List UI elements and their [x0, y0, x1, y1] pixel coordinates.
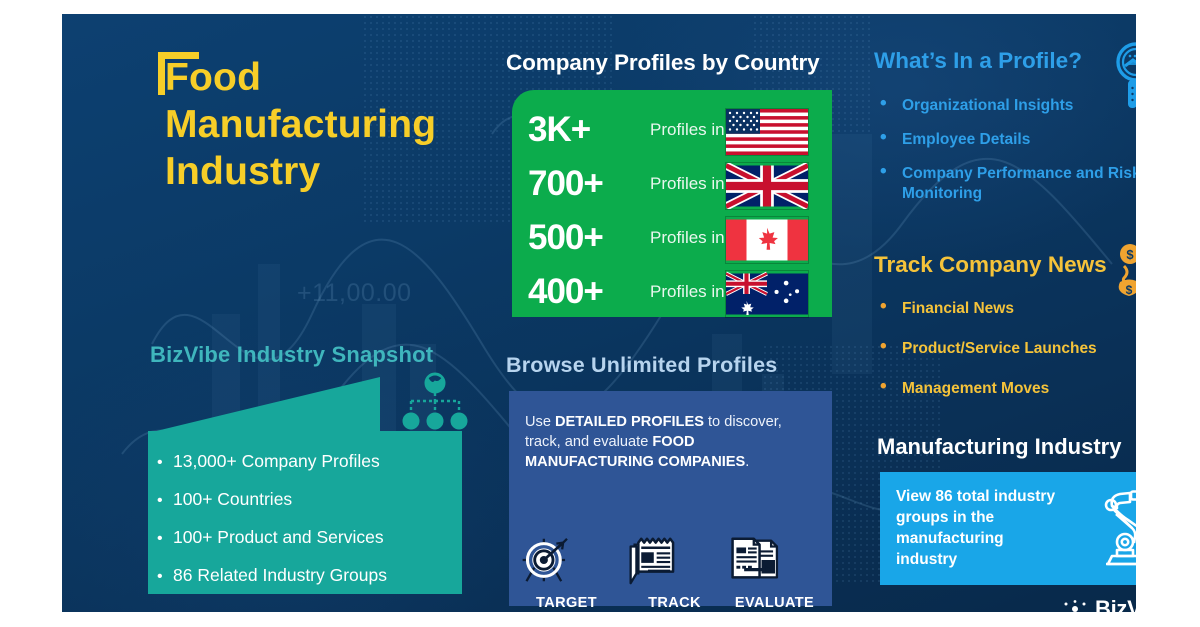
profiles-by-country-heading: Company Profiles by Country	[506, 50, 846, 76]
list-item-label: Management Moves	[902, 380, 1049, 397]
table-row: 400+ Profiles in	[512, 272, 832, 322]
list-item: • 86 Related Industry Groups	[148, 567, 462, 584]
title-line-2: Manufacturing	[165, 101, 495, 148]
background-watermark-number: +11,00.00	[297, 279, 412, 308]
action-target[interactable]: TARGET	[513, 533, 620, 611]
list-item: • 100+ Product and Services	[148, 529, 462, 546]
snapshot-heading: BizVibe Industry Snapshot	[150, 342, 480, 368]
track-news-heading: Track Company News	[874, 252, 1107, 278]
list-item-label: 100+ Product and Services	[173, 527, 384, 547]
profiles-by-country-panel: 3K+ Profiles in	[512, 90, 832, 317]
bullet-icon: •	[880, 337, 887, 357]
profile-count: 400+	[528, 272, 603, 312]
bullet-icon: •	[157, 492, 163, 509]
table-row: 3K+ Profiles in	[512, 110, 832, 160]
list-item-label: 100+ Countries	[173, 489, 292, 509]
svg-text:$: $	[1126, 247, 1134, 262]
profile-count: 700+	[528, 164, 603, 204]
action-label: EVALUATE	[721, 595, 828, 611]
list-item: • Product/Service Launches	[874, 339, 1136, 359]
title-line-1: Food	[165, 54, 495, 101]
list-item: • Management Moves	[874, 379, 1136, 399]
snapshot-pointer-decoration	[148, 377, 408, 433]
list-item: • 100+ Countries	[148, 491, 462, 508]
manufacturing-heading: Manufacturing Industry	[877, 434, 1121, 460]
profile-count-label: Profiles in	[650, 120, 725, 140]
manufacturing-callout-text: View 86 total industry groups in the man…	[896, 486, 1056, 570]
browse-panel: Use DETAILED PROFILES to discover, track…	[509, 391, 832, 606]
browse-description: Use DETAILED PROFILES to discover, track…	[525, 412, 815, 472]
bullet-icon: •	[880, 297, 887, 317]
robot-arm-icon	[1092, 488, 1136, 570]
browse-copy-part: .	[745, 454, 749, 470]
action-track[interactable]: TRACK	[621, 533, 728, 611]
action-evaluate[interactable]: EVALUATE	[721, 533, 828, 611]
action-label: TARGET	[513, 595, 620, 611]
bullet-icon: •	[880, 128, 887, 148]
browse-copy-part: Use	[525, 414, 555, 430]
uk-flag-icon	[726, 163, 808, 209]
profile-count-label: Profiles in	[650, 174, 725, 194]
title-line-3: Industry	[165, 148, 495, 195]
track-news-list: • Financial News • Product/Service Launc…	[874, 299, 1136, 419]
browse-heading: Browse Unlimited Profiles	[506, 353, 846, 378]
bullet-icon: •	[157, 530, 163, 547]
profile-count: 3K+	[528, 110, 590, 150]
bullet-icon: •	[157, 454, 163, 471]
org-chart-globe-icon	[398, 372, 472, 434]
newspaper-icon	[621, 533, 683, 587]
bizvibe-logo-text: BizVibe	[1095, 596, 1136, 612]
list-item-label: 13,000+ Company Profiles	[173, 451, 380, 471]
list-item-label: Financial News	[902, 300, 1014, 317]
list-item-label: Product/Service Launches	[902, 340, 1097, 357]
infographic-canvas: +11,00.00 Food Manufacturing Industry Bi…	[0, 0, 1200, 627]
australia-flag-icon	[726, 271, 808, 317]
target-icon	[513, 533, 575, 587]
snapshot-panel: • 13,000+ Company Profiles • 100+ Countr…	[148, 431, 462, 594]
us-flag-icon	[726, 109, 808, 155]
list-item: • Organizational Insights	[874, 96, 1136, 116]
list-item: • Company Performance and Risk Monitorin…	[874, 164, 1136, 204]
bullet-icon: •	[880, 94, 887, 114]
table-row: 700+ Profiles in	[512, 164, 832, 214]
documents-icon	[721, 533, 783, 587]
page-title: Food Manufacturing Industry	[165, 54, 495, 195]
profile-count: 500+	[528, 218, 603, 258]
bizvibe-logo: BizVibe	[1062, 596, 1136, 612]
list-item-label: 86 Related Industry Groups	[173, 565, 387, 585]
canada-flag-icon	[726, 217, 808, 263]
browse-copy-strong: DETAILED PROFILES	[555, 414, 704, 430]
snapshot-list: • 13,000+ Company Profiles • 100+ Countr…	[148, 431, 462, 594]
manufacturing-callout-panel: View 86 total industry groups in the man…	[880, 472, 1136, 585]
bullet-icon: •	[880, 377, 887, 397]
list-item: • 13,000+ Company Profiles	[148, 453, 462, 470]
list-item-label: Organizational Insights	[902, 97, 1073, 114]
svg-text:$: $	[1126, 283, 1133, 297]
whats-in-profile-list: • Organizational Insights • Employee Det…	[874, 96, 1136, 218]
list-item: • Financial News	[874, 299, 1136, 319]
bullet-icon: •	[157, 568, 163, 585]
list-item-label: Company Performance and Risk Monitoring	[902, 165, 1136, 202]
bizvibe-dots-icon	[1062, 599, 1088, 612]
bullet-icon: •	[880, 162, 887, 182]
table-row: 500+ Profiles in	[512, 218, 832, 268]
profile-count-label: Profiles in	[650, 282, 725, 302]
infographic-board: +11,00.00 Food Manufacturing Industry Bi…	[62, 14, 1136, 612]
profile-count-label: Profiles in	[650, 228, 725, 248]
action-label: TRACK	[621, 595, 728, 611]
list-item-label: Employee Details	[902, 131, 1030, 148]
list-item: • Employee Details	[874, 130, 1136, 150]
whats-in-profile-heading: What’s In a Profile?	[874, 48, 1082, 74]
